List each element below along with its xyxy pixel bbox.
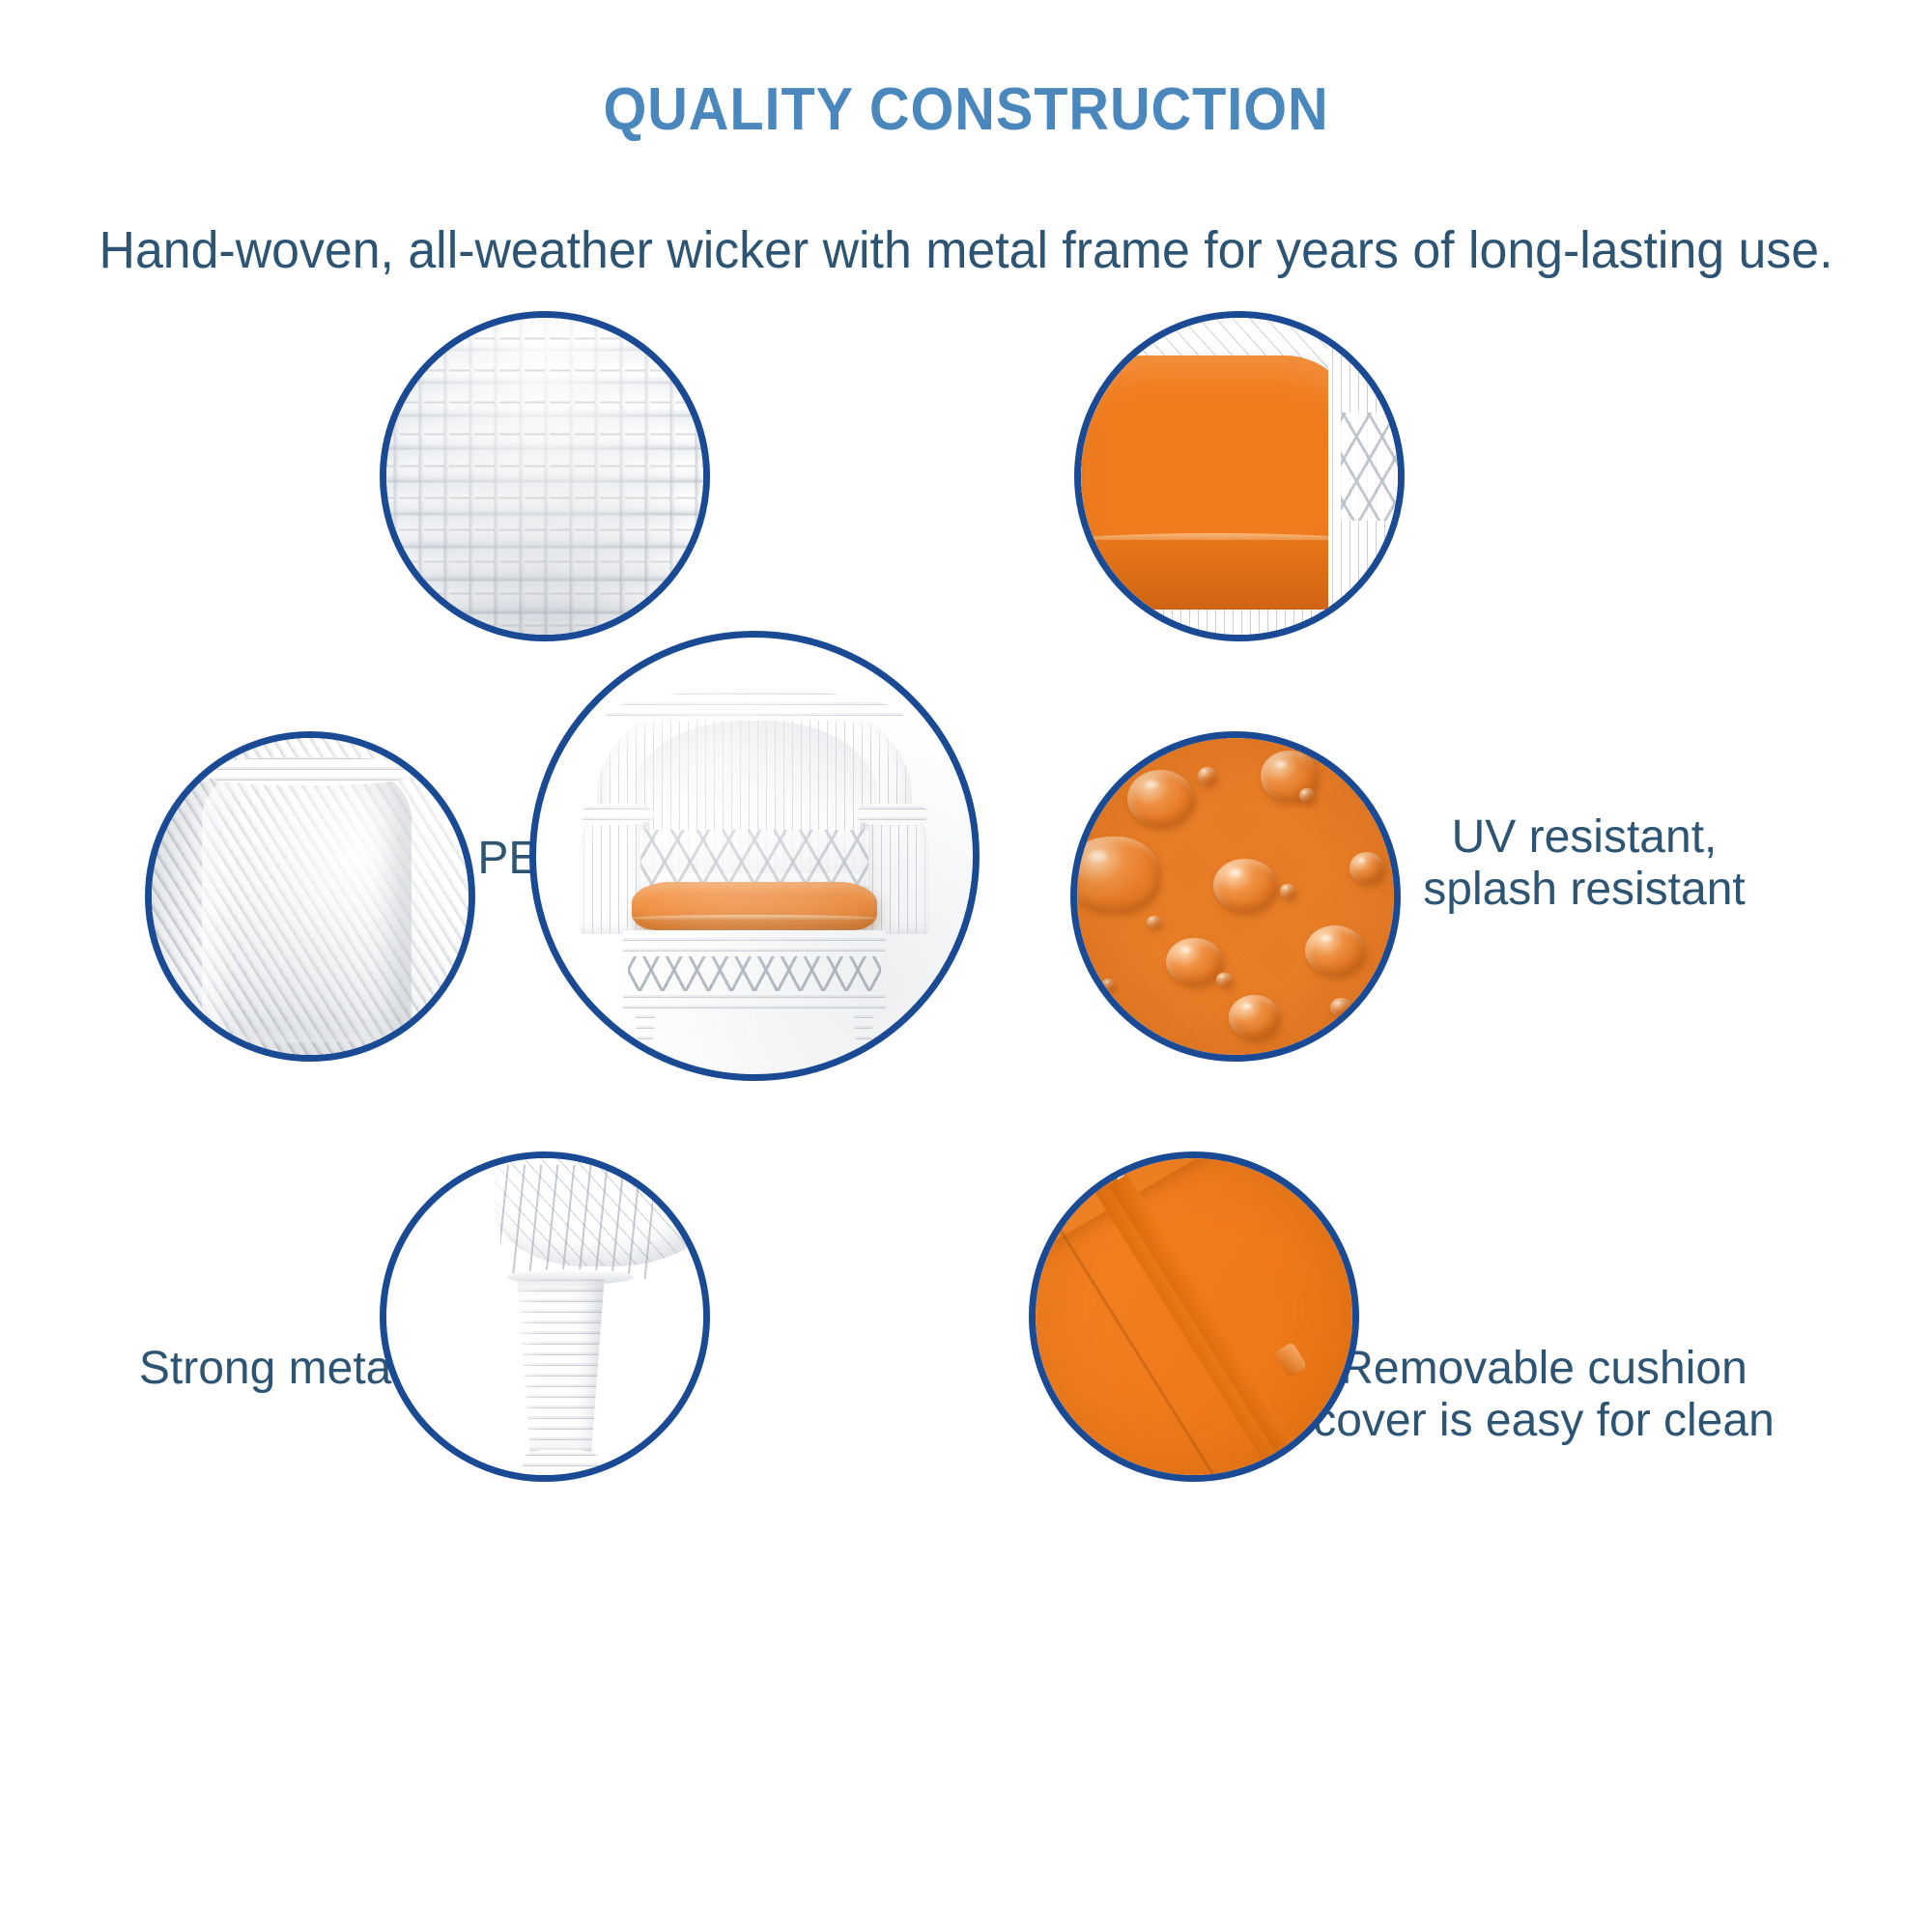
- chair-front-left-foot: [628, 1057, 663, 1074]
- feature-circle-cushion-zipper: [1029, 1151, 1359, 1482]
- feature-circle-full-chair: [529, 631, 980, 1081]
- page-subtitle: Hand-woven, all-weather wicker with meta…: [39, 220, 1893, 280]
- feature-circle-chair-leg-detail: [380, 1151, 710, 1482]
- basket-weave-brick-overlay: [386, 318, 703, 635]
- water-beads-photo: [1077, 738, 1394, 1055]
- caption-removable-cushion-cover: Removable cushion cover is easy for clea…: [1293, 1343, 1795, 1447]
- chair-corner-edge: [202, 763, 411, 1042]
- chair-leg-photo: [386, 1158, 703, 1475]
- chair-front-right-foot: [846, 1057, 881, 1074]
- full-chair-photo: [536, 638, 973, 1074]
- chair-corner-photo: [152, 738, 469, 1055]
- rattan-weave-photo: [386, 318, 703, 635]
- fabric-vignette: [1077, 738, 1394, 1055]
- cushion-on-chair-photo: [1081, 318, 1398, 635]
- top-rail-rope-wrap: [196, 757, 418, 786]
- chair-side-lattice: [1341, 412, 1398, 521]
- feature-circle-uv-splash-resistant: [1074, 311, 1405, 641]
- feature-circle-removable-cushion-cover: [1070, 731, 1401, 1062]
- cushion-front-face: [1081, 540, 1360, 610]
- feature-circle-hand-woven-pe-rattan: [380, 311, 710, 641]
- leg-splayed-reeds: [500, 1165, 652, 1279]
- page-title: QUALITY CONSTRUCTION: [68, 75, 1864, 144]
- caption-uv-splash-resistant: UV resistant, splash resistant: [1391, 811, 1777, 916]
- chair-lighting-overlay: [536, 638, 973, 1074]
- leg-foot: [523, 1450, 599, 1475]
- cushion-zipper-photo: [1036, 1158, 1352, 1475]
- cushion-vignette: [1036, 1158, 1352, 1475]
- feature-circle-strong-metal-structure: [145, 731, 475, 1062]
